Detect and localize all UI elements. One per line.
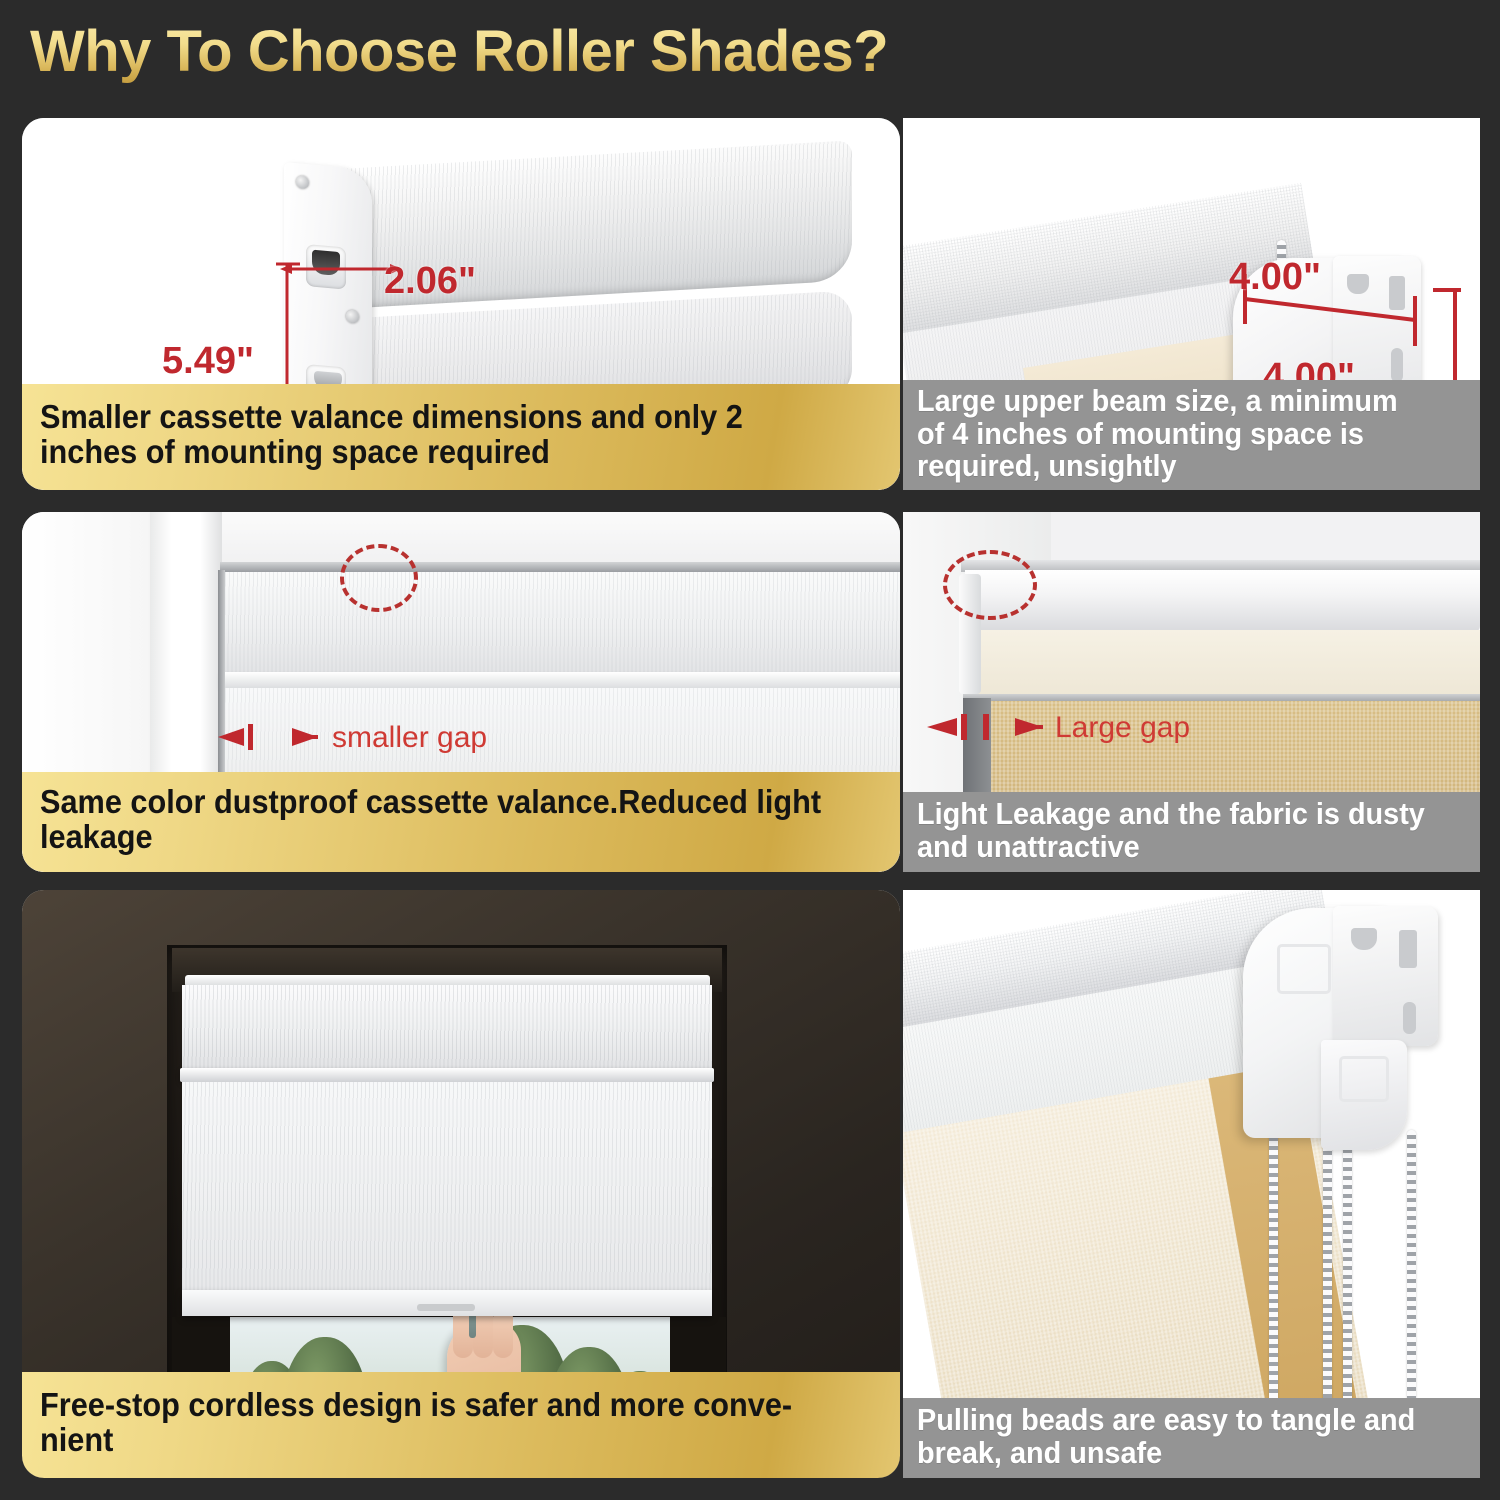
caption-bar-bad-2: Light Leakage and the fabric is dusty an… [903,792,1480,872]
caption-text: Free-stop cordless design is safer and m… [40,1388,823,1458]
height-dimension-label: 5.49" [162,340,254,383]
caption-text: Smaller cassette valance dimensions and … [40,400,823,470]
caption-bar-good-2: Same color dustproof cassette valance.Re… [22,772,900,872]
caption-text: Light Leakage and the fabric is dusty an… [917,798,1428,864]
cassette-body [292,140,852,421]
caption-bar-bad-1: Large upper beam size, a minimum of 4 in… [903,380,1480,490]
caption-bar-good-1: Smaller cassette valance dimensions and … [22,384,900,490]
panel-bad-large-gap: Large gap Light Leakage and the fabric i… [903,512,1480,872]
panel-good-cassette-dimensions: 2.06" 5.49" Smaller cassette valance dim… [22,118,900,490]
small-gap-arrows [218,722,328,752]
panel-good-cordless: Free-stop cordless design is safer and m… [22,890,900,1478]
page-title: Why To Choose Roller Shades? [30,18,888,85]
clutch-emblem [1277,944,1331,994]
caption-text: Large upper beam size, a minimum of 4 in… [917,385,1428,484]
mounting-bracket-top [1333,906,1438,1046]
beam-width-dimension-label: 4.00" [1229,256,1321,299]
caption-bar-good-3: Free-stop cordless design is safer and m… [22,1372,900,1478]
width-dimension-label: 2.06" [384,260,476,303]
photo-bead-chain-shade [903,890,1480,1478]
large-gap-arrows [927,712,1053,742]
caption-bar-bad-3: Pulling beads are easy to tangle and bre… [903,1398,1480,1478]
caption-text: Pulling beads are easy to tangle and bre… [917,1404,1428,1470]
highlight-circle-small-gap [340,544,418,612]
panel-bad-beam-dimensions: 4.00" 4.00" Large upper beam size, a min… [903,118,1480,490]
bead-chain[interactable] [1407,1130,1416,1430]
panel-bad-pulling-beads: Pulling beads are easy to tangle and bre… [903,890,1480,1478]
panel-good-small-gap: smaller gap Same color dustproof cassett… [22,512,900,872]
infographic-root: Why To Choose Roller Shades? [0,0,1500,1500]
small-gap-label: smaller gap [332,721,487,755]
mounting-bracket-bottom [1321,1040,1407,1150]
large-gap-label: Large gap [1055,711,1190,745]
caption-text: Same color dustproof cassette valance.Re… [40,785,823,855]
highlight-circle-large-gap [943,550,1037,620]
